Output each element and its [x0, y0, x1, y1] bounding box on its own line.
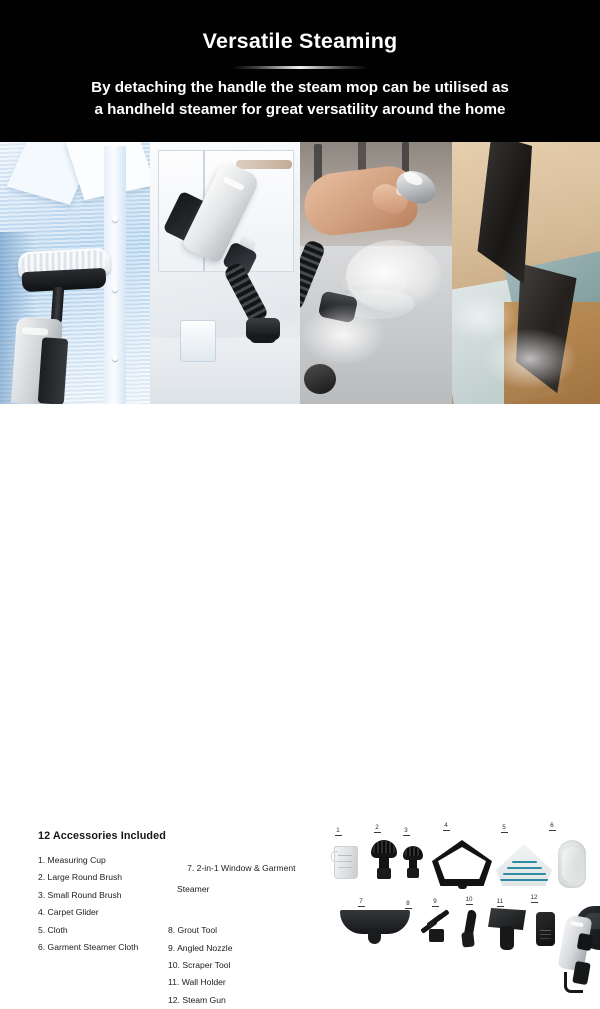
- accessories-diagram: 1 2 3 4 5 6 7 8 9 10 11 12: [318, 822, 600, 1000]
- list-item: 10. Scraper Tool: [168, 957, 308, 974]
- photo-strip: [0, 142, 600, 404]
- list-item: 2. Large Round Brush: [38, 869, 168, 886]
- photo-garment-steamer-on-shirt: [0, 142, 150, 404]
- angled-nozzle-base: [461, 931, 475, 947]
- diagram-label-11: 11: [493, 898, 507, 905]
- accessory-scraper-tool: [488, 908, 526, 952]
- list-item: 5. Cloth: [38, 922, 168, 939]
- accessory-steam-gun: [562, 906, 600, 996]
- accessory-cloth: [496, 844, 552, 888]
- shirt-button: [112, 216, 118, 222]
- diagram-label-6: 6: [545, 822, 559, 829]
- list-item-label: 7. 2-in-1 Window & Garment: [187, 863, 295, 873]
- photo-steaming-stovetop: [300, 142, 452, 404]
- grout-tool-bristle: [432, 909, 450, 924]
- carpet-glider-icon: [432, 840, 492, 886]
- list-item: 8. Grout Tool: [168, 922, 308, 939]
- list-item: 1. Measuring Cup: [38, 852, 168, 869]
- window-tool-connector: [368, 930, 381, 944]
- stove-control-knob: [304, 364, 336, 394]
- steam-cloud: [300, 304, 386, 366]
- scraper-grip: [474, 142, 532, 284]
- accessory-large-round-brush: [370, 840, 398, 880]
- photo-handheld-steamer-in-kitchen: [150, 142, 300, 404]
- title-divider: [232, 66, 368, 69]
- list-item-label-continued: Steamer: [168, 884, 308, 895]
- kitchen-counter: [150, 338, 300, 404]
- accessories-section: 12 Accessories Included 1. Measuring Cup…: [0, 404, 600, 600]
- diagram-label-4: 4: [439, 822, 453, 829]
- shirt-button: [112, 286, 118, 292]
- header-subtitle: By detaching the handle the steam mop ca…: [22, 77, 578, 121]
- page-title: Versatile Steaming: [0, 29, 600, 54]
- cloth-icon: [496, 844, 552, 886]
- accessory-measuring-cup: [332, 844, 358, 878]
- shirt-button: [112, 355, 118, 361]
- steamer-body-dark-panel: [38, 337, 69, 404]
- diagram-label-8: 8: [401, 900, 415, 907]
- accessory-window-garment-steamer: [340, 910, 410, 944]
- accessories-list-right: 7. 2-in-1 Window & Garment Steamer 8. Gr…: [168, 852, 308, 1009]
- steam-cloud: [346, 240, 442, 312]
- carpet-glider-tab: [458, 884, 467, 889]
- accessories-list-left: 1. Measuring Cup 2. Large Round Brush 3.…: [38, 852, 168, 956]
- steam-gun-hook: [564, 972, 583, 993]
- brush-base: [377, 868, 391, 879]
- accessory-carpet-glider: [432, 840, 492, 890]
- hose-nozzle-tip: [246, 318, 280, 340]
- list-item: 4. Carpet Glider: [38, 904, 168, 921]
- diagram-label-9: 9: [428, 898, 442, 905]
- garment-steamer-cloth-icon: [558, 840, 586, 888]
- diagram-label-7: 7: [354, 898, 368, 905]
- kitchen-shelf: [236, 160, 292, 169]
- diagram-label-2: 2: [370, 824, 384, 831]
- steam-cloud: [482, 328, 578, 390]
- cloth-stripe: [500, 879, 549, 881]
- brush-base: [407, 868, 419, 878]
- shirt-placket: [104, 146, 126, 404]
- diagram-label-5: 5: [497, 824, 511, 831]
- accessory-small-round-brush: [402, 846, 424, 880]
- list-item: 9. Angled Nozzle: [168, 940, 308, 957]
- subtitle-line-1: By detaching the handle the steam mop ca…: [22, 77, 578, 99]
- header-banner: Versatile Steaming By detaching the hand…: [0, 0, 600, 142]
- photo-scraper-tool-on-grime: [452, 142, 600, 404]
- cloth-stripe: [507, 867, 542, 869]
- grout-tool-base: [429, 929, 444, 942]
- list-item: 6. Garment Steamer Cloth: [38, 939, 168, 956]
- measuring-cup-icon: [334, 846, 358, 879]
- subtitle-line-2: a handheld steamer for great versatility…: [22, 99, 578, 121]
- diagram-label-1: 1: [331, 827, 345, 834]
- product-feature-page: Versatile Steaming By detaching the hand…: [0, 0, 600, 600]
- steam-gun-trigger: [577, 933, 594, 951]
- list-item: 11. Wall Holder: [168, 974, 308, 991]
- accessories-heading: 12 Accessories Included: [38, 830, 166, 842]
- diagram-label-3: 3: [399, 827, 413, 834]
- diagram-label-12: 12: [527, 894, 541, 901]
- wall-holder-icon: [536, 912, 555, 946]
- accessory-wall-holder: [536, 912, 556, 948]
- cloth-stripe: [512, 861, 537, 863]
- scraper-tool-base: [500, 926, 514, 950]
- list-item: 12. Steam Gun: [168, 992, 308, 1009]
- diagram-label-10: 10: [462, 896, 476, 903]
- cloth-stripe: [503, 873, 546, 875]
- list-item: 7. 2-in-1 Window & Garment Steamer: [168, 852, 308, 922]
- kitchen-glass-object: [180, 320, 216, 362]
- list-item: 3. Small Round Brush: [38, 887, 168, 904]
- accessory-angled-nozzle: [460, 910, 478, 948]
- accessory-garment-steamer-cloth: [558, 840, 588, 890]
- accessory-grout-tool: [418, 914, 452, 944]
